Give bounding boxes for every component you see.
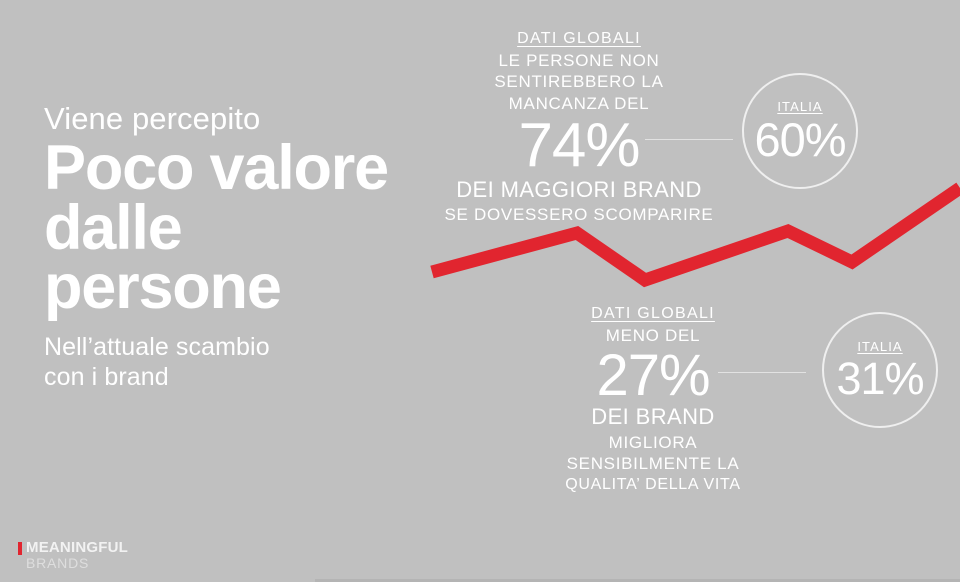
badge-bottom-label: ITALIA xyxy=(857,340,902,353)
badge-top-label: ITALIA xyxy=(777,100,822,113)
headline-block: Viene percepito Poco valore dalle person… xyxy=(44,102,464,392)
headline-subline: Nell’attuale scambio con i brand xyxy=(44,333,464,392)
logo: MEANINGFUL BRANDS xyxy=(18,540,128,570)
logo-text: MEANINGFUL BRANDS xyxy=(26,540,128,570)
badge-italia-bottom: ITALIA 31% xyxy=(822,312,938,428)
stat-top-lead-1: LE PERSONE NON xyxy=(430,50,728,72)
subline-line-2: con i brand xyxy=(44,363,464,393)
connector-line-bottom xyxy=(718,372,806,373)
badge-bottom-value: 31% xyxy=(836,358,923,401)
logo-name: MEANINGFUL xyxy=(26,540,128,555)
stat-bottom-source: DATI GLOBALI xyxy=(505,303,801,325)
headline-kicker: Viene percepito xyxy=(44,102,464,135)
subline-line-1: Nell’attuale scambio xyxy=(44,333,464,363)
stat-block-top: DATI GLOBALI LE PERSONE NON SENTIREBBERO… xyxy=(430,28,728,226)
stat-top-trail-small: SE DOVESSERO SCOMPARIRE xyxy=(430,204,728,226)
headline-main: Poco valore dalle persone xyxy=(44,139,464,317)
stat-top-source: DATI GLOBALI xyxy=(430,28,728,50)
stat-top-trail-big: DEI MAGGIORI BRAND xyxy=(430,176,728,204)
stat-top-value: 74% xyxy=(430,117,728,176)
logo-mark-icon xyxy=(18,542,22,555)
stat-bottom-trail-small: MIGLIORA xyxy=(505,432,801,454)
stat-bottom-trail-big: DEI BRAND xyxy=(505,403,801,431)
badge-italia-top: ITALIA 60% xyxy=(742,73,858,189)
headline-line-3: persone xyxy=(44,258,464,317)
stat-bottom-value: 27% xyxy=(505,348,801,403)
headline-line-2: dalle xyxy=(44,199,464,258)
connector-line-top xyxy=(645,139,733,140)
headline-line-1: Poco valore xyxy=(44,139,464,198)
stat-top-lead-2: SENTIREBBERO LA xyxy=(430,71,728,93)
logo-sub: BRANDS xyxy=(26,556,128,570)
stat-bottom-trail-small-2: SENSIBILMENTE LA xyxy=(505,453,801,475)
badge-top-value: 60% xyxy=(754,118,845,163)
slide-canvas: Viene percepito Poco valore dalle person… xyxy=(0,0,960,582)
stat-bottom-trail-xsmall: QUALITA’ DELLA VITA xyxy=(505,475,801,495)
stat-block-bottom: DATI GLOBALI MENO DEL 27% DEI BRAND MIGL… xyxy=(505,303,801,496)
